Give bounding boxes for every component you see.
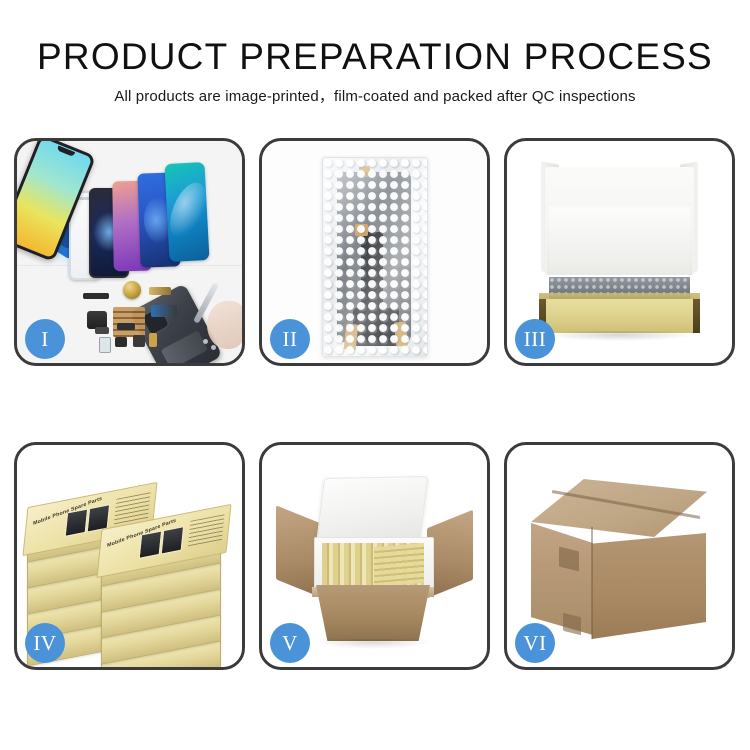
plastic-sheen: [323, 158, 427, 356]
vibration-motor-part: [123, 281, 141, 299]
foam-box-lid-image: [316, 476, 429, 546]
page-header: PRODUCT PREPARATION PROCESS All products…: [0, 0, 750, 104]
hand-image: [207, 301, 242, 349]
process-step-panel-2[interactable]: II: [259, 138, 490, 366]
packed-boxes-row-2: [374, 543, 424, 587]
screw-part-2: [211, 345, 216, 350]
carton-front-panel: [316, 585, 430, 641]
process-step-panel-4[interactable]: Mobile Phone Spare Parts Mobile Phone Sp…: [14, 442, 245, 670]
logic-board-part: [113, 307, 145, 337]
step-badge-1: I: [25, 319, 65, 359]
screw-part-1: [203, 339, 208, 344]
step-badge-4: IV: [25, 623, 65, 663]
small-part-6: [95, 327, 109, 334]
box-front-panel: [539, 299, 700, 333]
process-steps-grid: I II: [14, 138, 736, 670]
flex-cable-part-2: [151, 305, 177, 317]
box-window-front-1: [139, 530, 163, 559]
process-step-panel-1[interactable]: I: [14, 138, 245, 366]
small-part-2: [115, 337, 127, 347]
page-subtitle: All products are image-printed，film-coat…: [0, 89, 750, 104]
small-part-4: [149, 333, 157, 347]
phone-teal-image: [164, 162, 209, 262]
process-step-panel-6[interactable]: VI: [504, 442, 735, 670]
bubble-wrap-bag-image: [322, 157, 428, 357]
speaker-part: [83, 293, 109, 299]
process-step-panel-3[interactable]: III: [504, 138, 735, 366]
flex-cable-part-3: [149, 287, 171, 295]
step-badge-5: V: [270, 623, 310, 663]
page-title: PRODUCT PREPARATION PROCESS: [0, 38, 750, 75]
small-part-1: [99, 337, 111, 353]
step-badge-6: VI: [515, 623, 555, 663]
small-part-5: [117, 323, 135, 330]
foam-sheet-image: [547, 203, 692, 275]
step-badge-3: III: [515, 319, 555, 359]
small-part-3: [133, 335, 145, 347]
carton-shadow: [316, 639, 430, 649]
box-shadow: [547, 331, 692, 341]
process-step-panel-5[interactable]: V: [259, 442, 490, 670]
box-window-front-2: [161, 526, 185, 555]
box-window-rear-1: [65, 508, 89, 537]
step-badge-2: II: [270, 319, 310, 359]
shipping-carton-right-face: [592, 533, 706, 639]
box-spec-lines-front: [188, 514, 225, 549]
shipping-carton-corner-fold: [591, 527, 593, 639]
